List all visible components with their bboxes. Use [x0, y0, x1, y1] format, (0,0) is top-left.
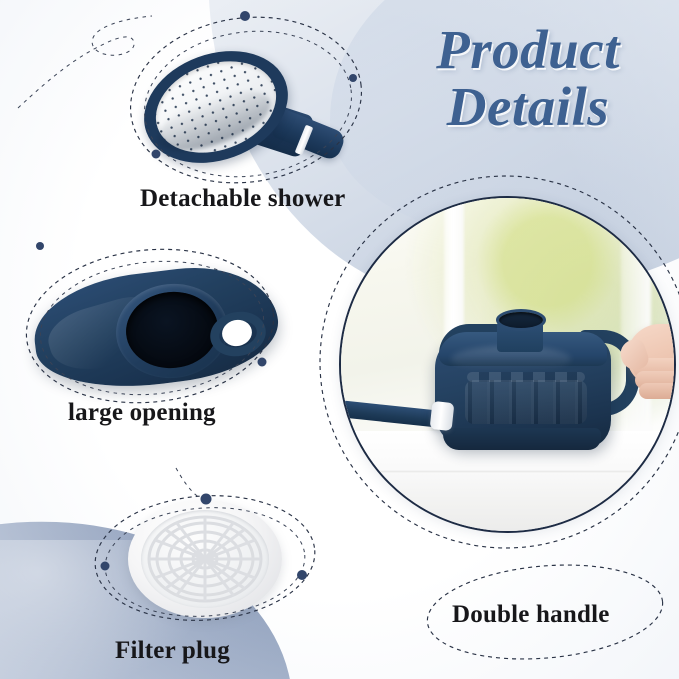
feature-caption-detachable-shower: Detachable shower [140, 185, 345, 213]
callout-leader-filter [176, 468, 205, 500]
feature-caption-double-handle: Double handle [452, 601, 610, 629]
marker-dot-opening-right [258, 358, 267, 367]
marker-dot-shower-top [240, 11, 250, 21]
marker-dot-filter-right [297, 570, 307, 580]
infographic-canvas: Product Details [0, 0, 679, 679]
corner-swirl-icon [18, 16, 152, 108]
marker-dot-shower-bottom [152, 150, 161, 159]
callout-ellipse-filter [91, 488, 319, 627]
callout-lines: .dash { fill:none; stroke:#2a3346; strok… [0, 0, 679, 679]
callout-ellipse-shower-inner [135, 18, 361, 190]
marker-dot-filter-top [201, 494, 212, 505]
marker-dot-filter-left [101, 562, 110, 571]
callout-ellipse-filter-inner [101, 501, 308, 623]
callout-circle-hero [320, 176, 679, 548]
feature-caption-filter-plug: Filter plug [115, 637, 230, 665]
marker-dot-opening-left [36, 242, 44, 250]
feature-caption-large-opening: large opening [68, 399, 216, 427]
marker-dot-shower-right [349, 74, 357, 82]
callout-ellipse-opening [19, 237, 282, 414]
